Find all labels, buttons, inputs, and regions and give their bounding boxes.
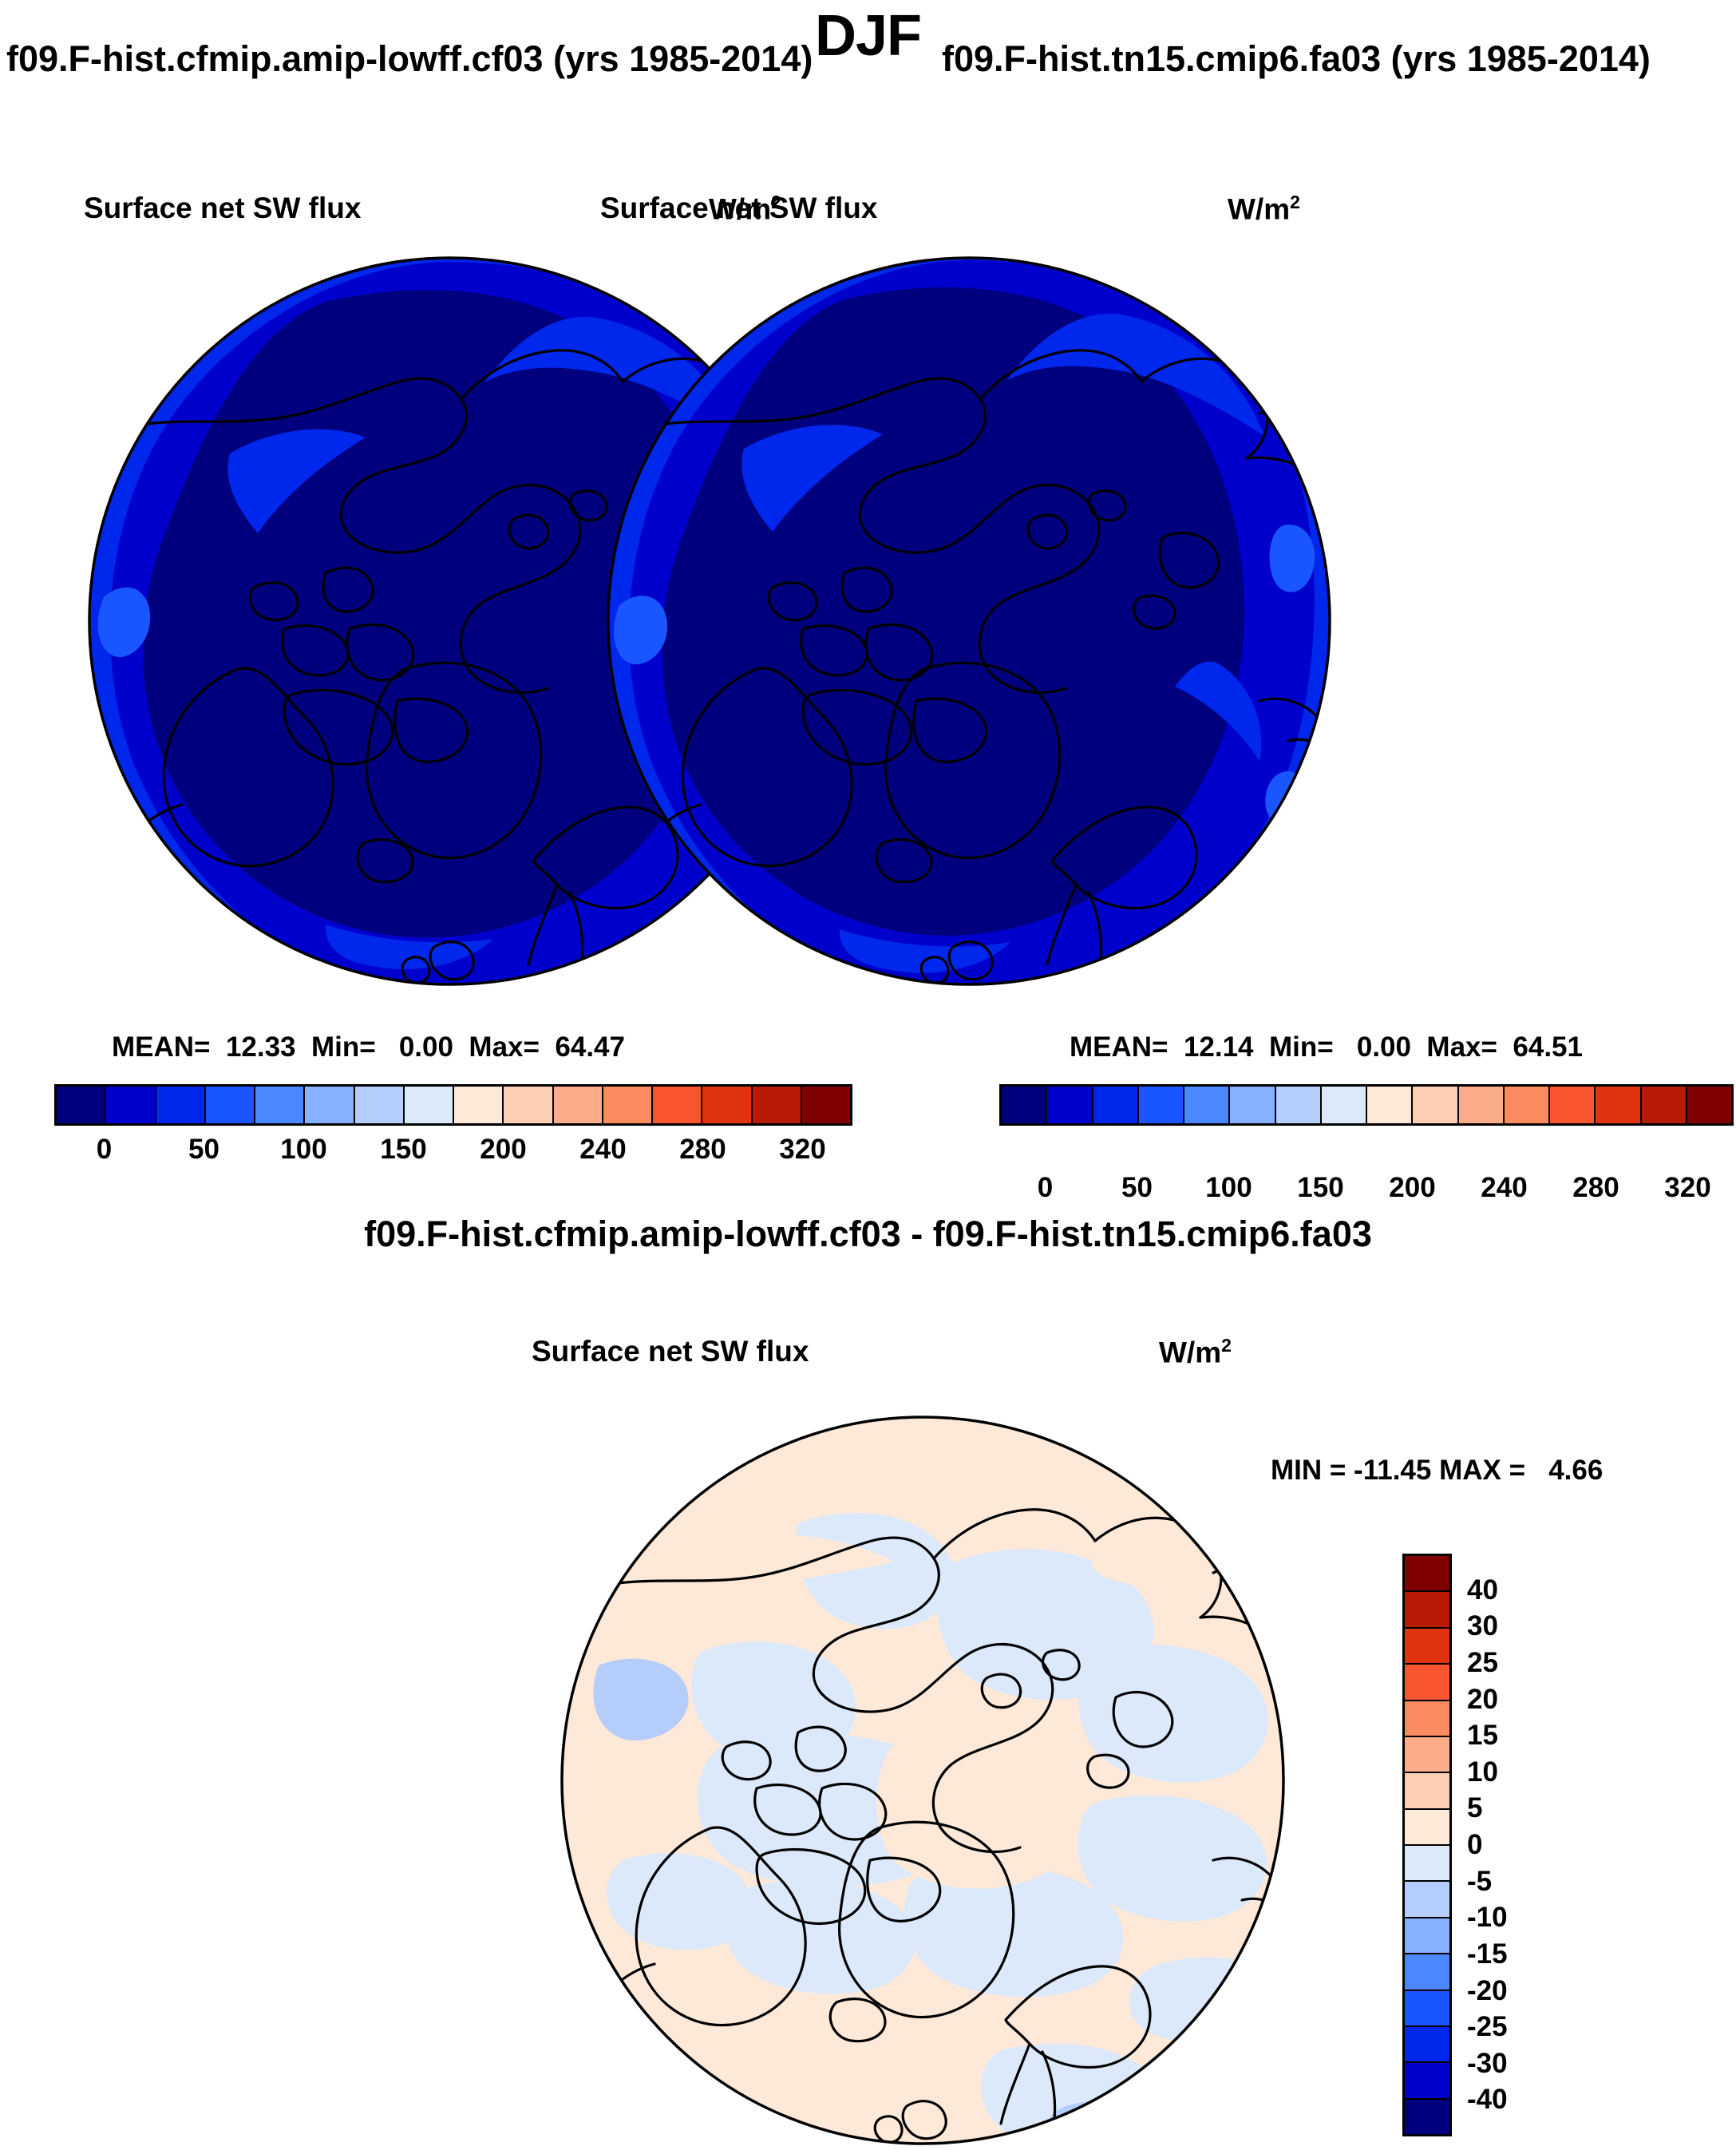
colorbar-cell-12 bbox=[1550, 1087, 1596, 1123]
colorbar-cell-8 bbox=[1367, 1087, 1413, 1123]
colorbar-left bbox=[54, 1084, 852, 1126]
colorbar-cell-5 bbox=[1230, 1087, 1275, 1123]
colorbar-tick-label: 50 bbox=[1121, 1172, 1153, 1204]
colorbar-cell-14 bbox=[753, 1087, 802, 1123]
colorbar-diff-tick-label: -30 bbox=[1467, 2048, 1508, 2080]
colorbar-cell-12 bbox=[653, 1087, 702, 1123]
colorbar-diff-tick-label: 20 bbox=[1467, 1684, 1498, 1716]
colorbar-tick-label: 240 bbox=[579, 1134, 626, 1166]
colorbar-tick-label: 200 bbox=[480, 1134, 526, 1166]
colorbar-cell-10 bbox=[1459, 1087, 1505, 1123]
colorbar-tick-label: 280 bbox=[679, 1134, 726, 1166]
colorbar-cell-0 bbox=[1002, 1087, 1047, 1123]
diff-case-title: f09.F-hist.cfmip.amip-lowff.cf03 - f09.F… bbox=[0, 1214, 1736, 1255]
panel-left-stats: MEAN= 12.33 Min= 0.00 Max= 64.47 bbox=[112, 1031, 625, 1063]
colorbar-tick-label: 100 bbox=[280, 1134, 326, 1166]
colorbar-cell-13 bbox=[702, 1087, 752, 1123]
colorbar-diff-tick-label: -10 bbox=[1467, 1902, 1508, 1934]
colorbar-cell-11 bbox=[1505, 1087, 1550, 1123]
colorbar-diff-cell-2 bbox=[1405, 1629, 1449, 1665]
colorbar-diff-cell-10 bbox=[1405, 1918, 1449, 1954]
colorbar-diff-tick-label: -15 bbox=[1467, 1938, 1508, 1970]
case-title-left: f09.F-hist.cfmip.amip-lowff.cf03 (yrs 19… bbox=[6, 38, 813, 80]
colorbar-tick-label: 240 bbox=[1481, 1172, 1527, 1204]
colorbar-cell-11 bbox=[603, 1087, 653, 1123]
colorbar-diff-cell-0 bbox=[1405, 1556, 1449, 1592]
colorbar-diff-cell-9 bbox=[1405, 1882, 1449, 1918]
colorbar-diff-tick-label: 40 bbox=[1467, 1574, 1498, 1606]
map-right-svg bbox=[605, 254, 1333, 988]
colorbar-cell-3 bbox=[1139, 1087, 1184, 1123]
colorbar-tick-label: 150 bbox=[380, 1134, 426, 1166]
colorbar-diff-tick-label: 5 bbox=[1467, 1792, 1482, 1824]
panel-right-variable-label: Surface net SW flux bbox=[600, 192, 877, 225]
panel-right-units-label: W/m2 bbox=[1228, 192, 1300, 226]
colorbar-diff-cell-4 bbox=[1405, 1701, 1449, 1737]
colorbar-cell-13 bbox=[1596, 1087, 1641, 1123]
map-diff bbox=[559, 1412, 1287, 2150]
colorbar-diff-tick-label: -20 bbox=[1467, 1975, 1508, 2007]
map-diff-svg bbox=[559, 1412, 1287, 2150]
colorbar-diff-tick-label: 25 bbox=[1467, 1647, 1498, 1679]
colorbar-tick-label: 150 bbox=[1297, 1172, 1343, 1204]
panel-diff-units-label: W/m2 bbox=[1159, 1335, 1232, 1369]
colorbar-cell-1 bbox=[1047, 1087, 1093, 1123]
colorbar-cell-0 bbox=[57, 1087, 106, 1123]
colorbar-diff-cell-6 bbox=[1405, 1773, 1449, 1809]
colorbar-tick-label: 0 bbox=[97, 1134, 112, 1166]
map-right bbox=[605, 254, 1333, 988]
colorbar-diff-cell-1 bbox=[1405, 1592, 1449, 1628]
colorbar-tick-label: 0 bbox=[1038, 1172, 1053, 1204]
colorbar-tick-label: 280 bbox=[1572, 1172, 1619, 1204]
colorbar-diff-cell-3 bbox=[1405, 1665, 1449, 1701]
panel-left-variable-label: Surface net SW flux bbox=[84, 192, 361, 225]
colorbar-diff-tick-label: 30 bbox=[1467, 1610, 1498, 1642]
panel-right-units-exponent: 2 bbox=[1290, 192, 1300, 212]
colorbar-diff-cell-11 bbox=[1405, 1954, 1449, 1990]
panel-diff-stats: MIN = -11.45 MAX = 4.66 bbox=[1271, 1455, 1603, 1487]
colorbar-cell-15 bbox=[802, 1087, 850, 1123]
colorbar-tick-label: 50 bbox=[188, 1134, 219, 1166]
colorbar-cell-6 bbox=[1276, 1087, 1322, 1123]
colorbar-left-labels: 050100150200240280320 bbox=[54, 1134, 852, 1172]
colorbar-tick-label: 320 bbox=[1664, 1172, 1710, 1204]
colorbar-diff-tick-label: -40 bbox=[1467, 2084, 1508, 2116]
colorbar-diff-tick-label: 10 bbox=[1467, 1756, 1498, 1788]
panel-diff-units-exponent: 2 bbox=[1221, 1335, 1232, 1356]
colorbar-cell-2 bbox=[1093, 1087, 1139, 1123]
colorbar-cell-9 bbox=[504, 1087, 553, 1123]
case-title-right: f09.F-hist.tn15.cmip6.fa03 (yrs 1985-201… bbox=[942, 38, 1651, 80]
panel-diff-units-text: W/m bbox=[1159, 1336, 1221, 1368]
colorbar-diff-cell-8 bbox=[1405, 1846, 1449, 1882]
colorbar-diff-tick-label: 0 bbox=[1467, 1829, 1482, 1861]
colorbar-right-labels: 050100150200240280320 bbox=[999, 1172, 1734, 1210]
panel-diff-variable-label: Surface net SW flux bbox=[532, 1335, 809, 1368]
colorbar-right bbox=[999, 1084, 1734, 1126]
colorbar-cell-5 bbox=[305, 1087, 354, 1123]
colorbar-diff-tick-label: -5 bbox=[1467, 1866, 1492, 1898]
colorbar-diff-tick-label: -25 bbox=[1467, 2011, 1508, 2043]
colorbar-diff-cell-14 bbox=[1405, 2063, 1449, 2099]
colorbar-cell-1 bbox=[106, 1087, 156, 1123]
colorbar-diff-cell-13 bbox=[1405, 2027, 1449, 2063]
colorbar-diff-cell-12 bbox=[1405, 1991, 1449, 2027]
colorbar-cell-9 bbox=[1413, 1087, 1458, 1123]
colorbar-cell-8 bbox=[454, 1087, 504, 1123]
colorbar-tick-label: 100 bbox=[1205, 1172, 1252, 1204]
colorbar-cell-14 bbox=[1642, 1087, 1687, 1123]
colorbar-cell-6 bbox=[355, 1087, 405, 1123]
panel-right-stats: MEAN= 12.14 Min= 0.00 Max= 64.51 bbox=[1070, 1031, 1583, 1063]
colorbar-diff-tick-label: 15 bbox=[1467, 1720, 1498, 1752]
colorbar-cell-3 bbox=[206, 1087, 255, 1123]
colorbar-tick-label: 320 bbox=[779, 1134, 825, 1166]
colorbar-cell-2 bbox=[156, 1087, 206, 1123]
colorbar-tick-label: 200 bbox=[1389, 1172, 1435, 1204]
colorbar-cell-4 bbox=[255, 1087, 305, 1123]
colorbar-cell-15 bbox=[1687, 1087, 1731, 1123]
colorbar-diff-cell-5 bbox=[1405, 1737, 1449, 1773]
colorbar-diff-cell-15 bbox=[1405, 2100, 1449, 2134]
colorbar-cell-10 bbox=[554, 1087, 603, 1123]
panel-right-units-text: W/m bbox=[1228, 192, 1290, 225]
colorbar-cell-4 bbox=[1184, 1087, 1230, 1123]
colorbar-cell-7 bbox=[1322, 1087, 1367, 1123]
colorbar-cell-7 bbox=[405, 1087, 454, 1123]
colorbar-diff bbox=[1402, 1554, 1452, 2136]
colorbar-diff-cell-7 bbox=[1405, 1810, 1449, 1846]
